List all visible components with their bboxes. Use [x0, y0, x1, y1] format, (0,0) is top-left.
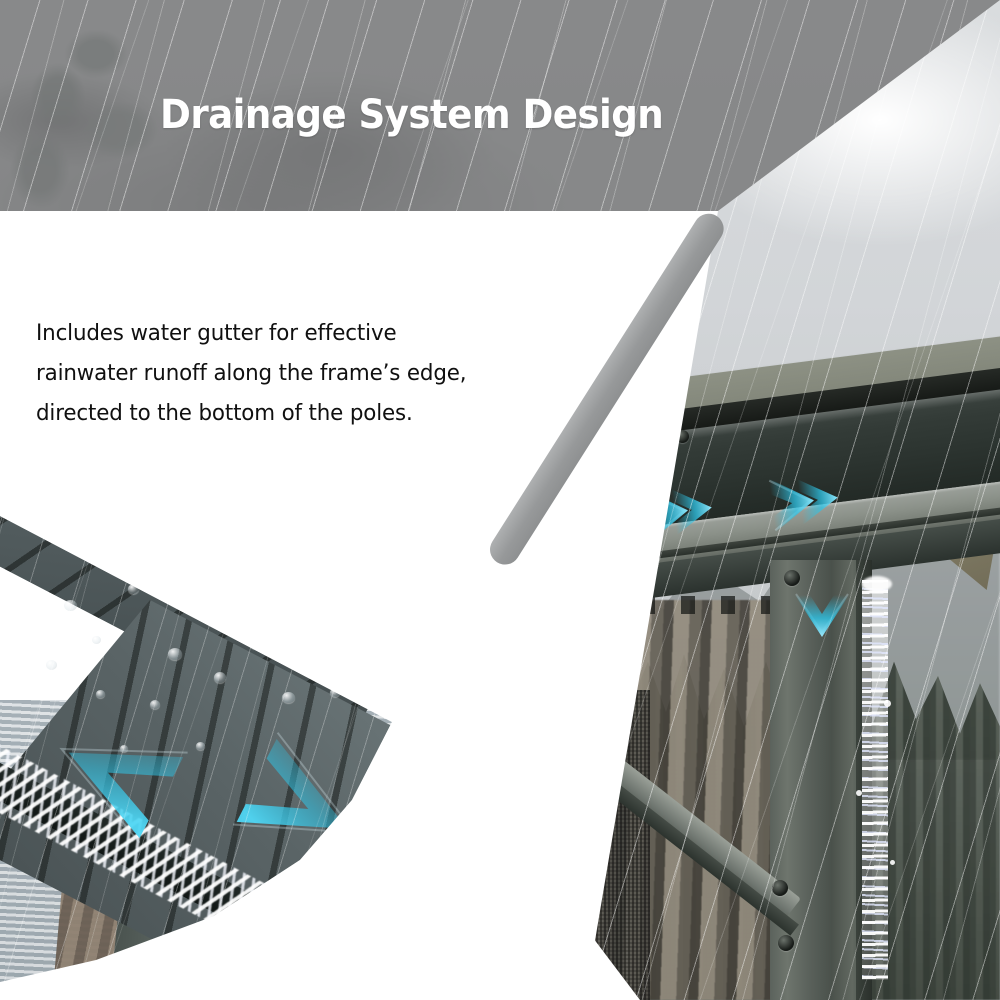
corner-post [770, 560, 866, 1000]
description-text: Includes water gutter for effective rain… [36, 313, 492, 433]
rainwater-stream [862, 580, 888, 980]
description-line-1: Includes water gutter for effective [36, 313, 492, 353]
water-droplet [168, 648, 182, 660]
water-droplet [120, 745, 128, 752]
water-droplet [92, 636, 101, 644]
water-droplet [884, 700, 891, 707]
infographic-canvas: Drainage System Design Includes water gu… [0, 0, 1000, 1000]
page-title: Drainage System Design [160, 90, 663, 140]
bolt-icon [778, 935, 794, 951]
bolt-icon [772, 880, 788, 896]
water-droplet [46, 660, 57, 670]
description-line-2: rainwater runoff along the frame’s edge, [36, 353, 492, 393]
water-droplet [214, 672, 226, 683]
water-droplet [890, 860, 895, 865]
water-droplet [856, 790, 862, 796]
description-line-3: directed to the bottom of the poles. [36, 393, 492, 433]
water-splash [862, 576, 892, 592]
water-droplet [196, 742, 205, 750]
water-droplet [64, 600, 77, 611]
water-droplet [96, 690, 105, 698]
water-droplet [282, 692, 295, 703]
bolt-icon [676, 430, 689, 443]
bolt-icon [784, 570, 800, 586]
water-droplet [150, 700, 160, 709]
